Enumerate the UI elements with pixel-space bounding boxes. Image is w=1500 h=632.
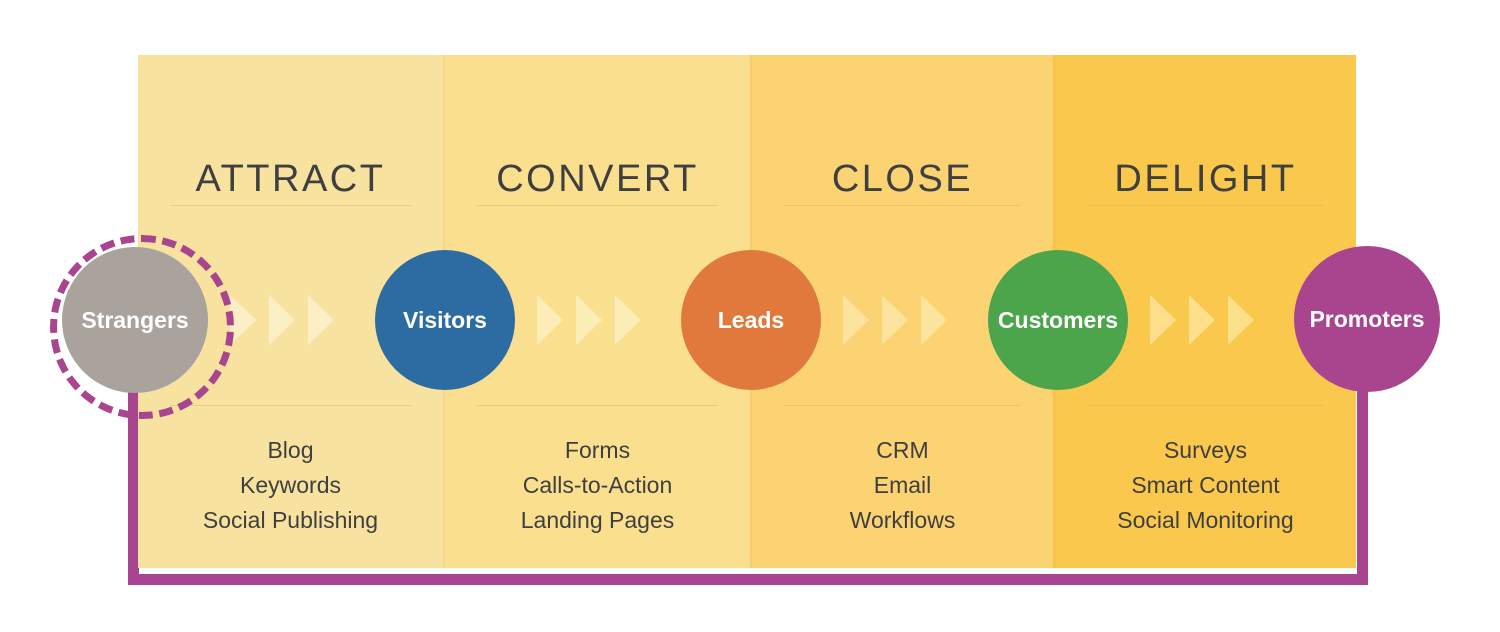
stage-item: Social Publishing <box>138 503 443 538</box>
divider-top-close <box>784 205 1021 206</box>
chevron-group-customers-to-promoters <box>1150 295 1254 345</box>
divider-bottom-attract <box>170 405 411 406</box>
stage-item: CRM <box>752 433 1053 468</box>
chevron-right-icon <box>882 295 908 345</box>
chevron-right-icon <box>576 295 602 345</box>
divider-top-convert <box>477 205 718 206</box>
stage-items-convert: Forms Calls-to-Action Landing Pages <box>445 433 750 538</box>
chevron-group-leads-to-customers <box>843 295 947 345</box>
stage-item: Surveys <box>1055 433 1356 468</box>
stage-item: Calls-to-Action <box>445 468 750 503</box>
stage-items-delight: Surveys Smart Content Social Monitoring <box>1055 433 1356 538</box>
stage-item: Email <box>752 468 1053 503</box>
stage-item: Forms <box>445 433 750 468</box>
chevron-right-icon <box>230 295 256 345</box>
chevron-right-icon <box>308 295 334 345</box>
strangers-dashed-ring <box>50 235 234 419</box>
stage-item: Smart Content <box>1055 468 1356 503</box>
node-customers[interactable]: Customers <box>988 250 1128 390</box>
chevron-right-icon <box>921 295 947 345</box>
chevron-right-icon <box>615 295 641 345</box>
chevron-group-visitors-to-leads <box>537 295 641 345</box>
stage-title-convert: CONVERT <box>445 160 750 198</box>
stage-item: Keywords <box>138 468 443 503</box>
chevron-right-icon <box>1228 295 1254 345</box>
stage-title-close: CLOSE <box>752 160 1053 198</box>
chevron-right-icon <box>269 295 295 345</box>
stage-item: Social Monitoring <box>1055 503 1356 538</box>
stage-item: Blog <box>138 433 443 468</box>
divider-bottom-convert <box>477 405 718 406</box>
divider-bottom-close <box>784 405 1021 406</box>
node-leads[interactable]: Leads <box>681 250 821 390</box>
stage-items-close: CRM Email Workflows <box>752 433 1053 538</box>
chevron-right-icon <box>1189 295 1215 345</box>
stage-title-attract: ATTRACT <box>138 160 443 198</box>
divider-top-delight <box>1087 205 1324 206</box>
stage-item: Landing Pages <box>445 503 750 538</box>
divider-bottom-delight <box>1087 405 1324 406</box>
chevron-right-icon <box>843 295 869 345</box>
chevron-group-strangers-to-visitors <box>230 295 334 345</box>
node-promoters[interactable]: Promoters <box>1294 246 1440 392</box>
chevron-right-icon <box>537 295 563 345</box>
stage-item: Workflows <box>752 503 1053 538</box>
divider-top-attract <box>170 205 411 206</box>
chevron-right-icon <box>1150 295 1176 345</box>
stage-title-delight: DELIGHT <box>1055 160 1356 198</box>
stage-items-attract: Blog Keywords Social Publishing <box>138 433 443 538</box>
node-visitors[interactable]: Visitors <box>375 250 515 390</box>
